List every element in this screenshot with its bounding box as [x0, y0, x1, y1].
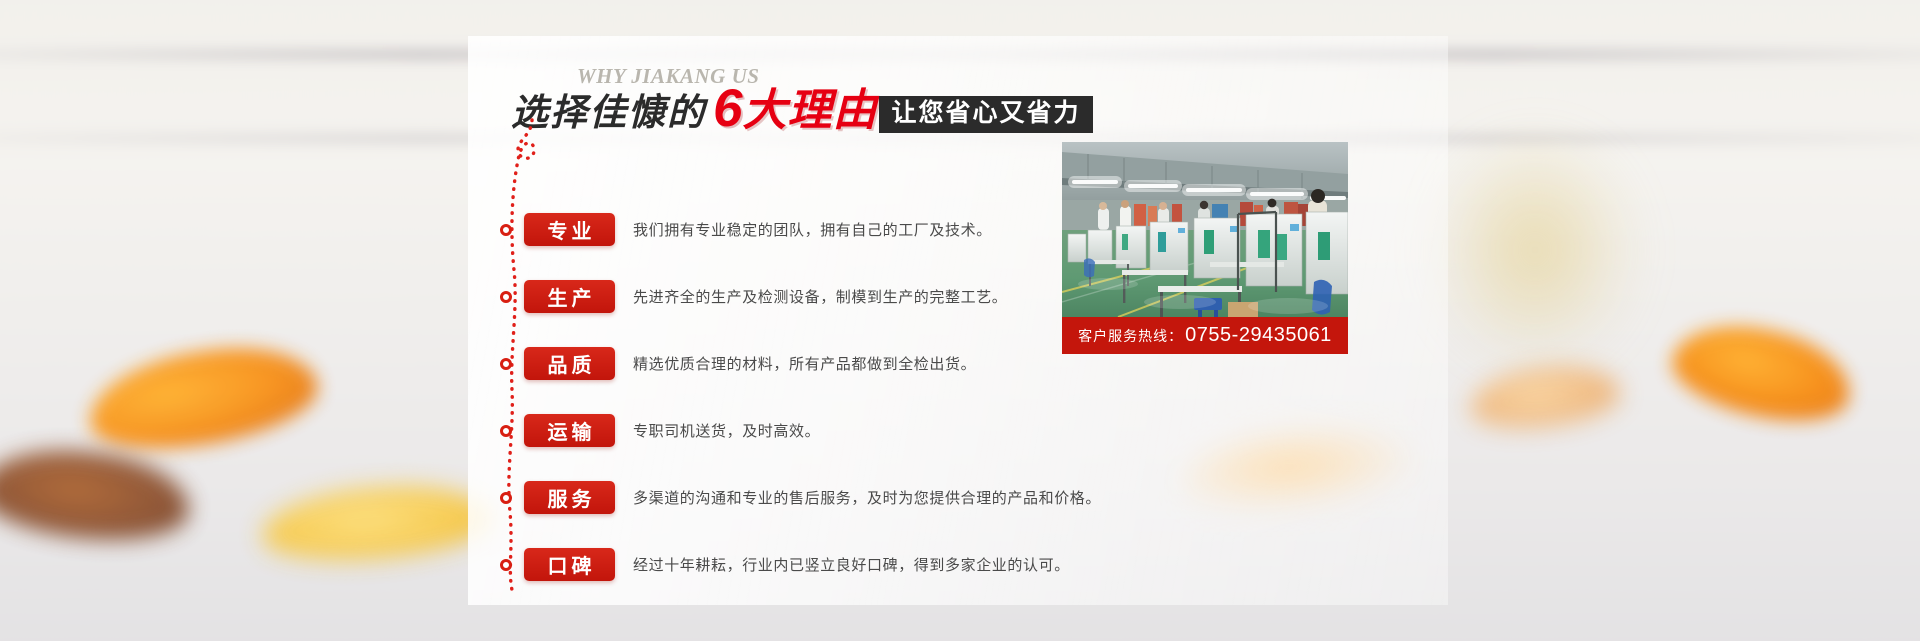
reason-badge: 生产: [524, 280, 615, 313]
factory-photo: [1062, 142, 1348, 317]
hotline-bar[interactable]: 客户服务热线： 0755-29435061: [1062, 317, 1348, 354]
bullet-node-icon: [500, 559, 512, 571]
list-item[interactable]: 运输 专职司机送货，及时高效。: [524, 397, 1184, 464]
hotline-number: 0755-29435061: [1185, 324, 1332, 347]
title-tag: 让您省心又省力: [879, 96, 1092, 133]
title-number: 6: [713, 85, 741, 134]
reason-badge: 运输: [524, 414, 615, 447]
bullet-node-icon: [500, 358, 512, 370]
list-item[interactable]: 口碑 经过十年耕耘，行业内已竖立良好口碑，得到多家企业的认可。: [524, 531, 1184, 598]
reason-description: 先进齐全的生产及检测设备，制模到生产的完整工艺。: [633, 286, 1007, 307]
hotline-label: 客户服务热线：: [1078, 326, 1183, 346]
bullet-node-icon: [500, 425, 512, 437]
title-red-text: 大理由: [742, 89, 877, 134]
list-item[interactable]: 服务 多渠道的沟通和专业的售后服务，及时为您提供合理的产品和价格。: [524, 464, 1184, 531]
factory-photo-card: 客户服务热线： 0755-29435061: [1062, 142, 1348, 354]
reason-description: 多渠道的沟通和专业的售后服务，及时为您提供合理的产品和价格。: [633, 487, 1101, 508]
reason-badge: 服务: [524, 481, 615, 514]
bullet-node-icon: [500, 224, 512, 236]
reason-badge: 专业: [524, 213, 615, 246]
reason-description: 经过十年耕耘，行业内已竖立良好口碑，得到多家企业的认可。: [633, 554, 1070, 575]
bullet-node-icon: [500, 291, 512, 303]
reason-badge: 品质: [524, 347, 615, 380]
reason-badge: 口碑: [524, 548, 615, 581]
reasons-section: WHY JIAKANG US 选择佳慷的 6 大理由 让您省心又省力 专业 我们…: [468, 36, 1448, 605]
reason-description: 我们拥有专业稳定的团队，拥有自己的工厂及技术。: [633, 219, 992, 240]
bullet-node-icon: [500, 492, 512, 504]
reason-description: 专职司机送货，及时高效。: [633, 420, 820, 441]
reason-description: 精选优质合理的材料，所有产品都做到全检出货。: [633, 353, 976, 374]
factory-photo-illustration: [1062, 142, 1348, 317]
